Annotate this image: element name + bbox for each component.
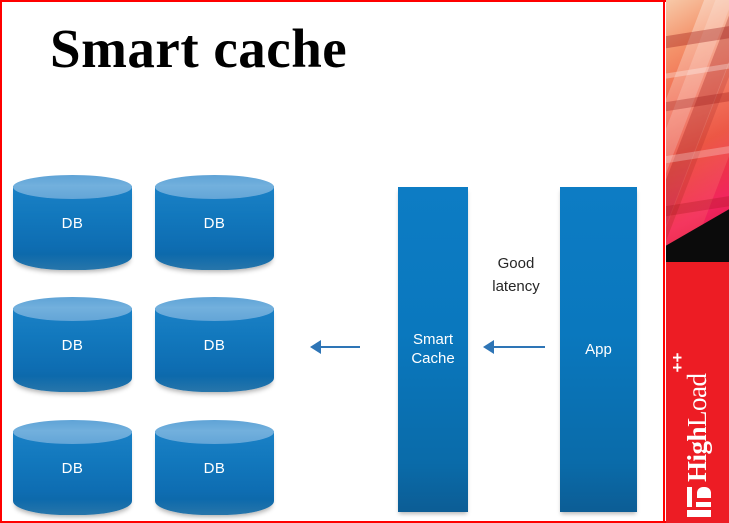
db-cylinder-top [155,420,274,444]
side-panel: HighLoad ++ [666,0,729,523]
arrow-head [483,340,494,354]
brand-name-load: Load [682,373,712,426]
slide-root: Smart cache DB DB DB DB DB DB Smart Cach… [0,0,729,523]
db-cylinder-sheen [13,499,132,515]
brand-suffix: ++ [669,353,686,373]
page-title: Smart cache [50,18,347,80]
highload-brand-panel: HighLoad ++ [666,262,729,523]
db-cylinder-sheen [13,376,132,392]
db-cylinder-label: DB [155,460,274,477]
arrow-head [310,340,321,354]
brand-name: HighLoad [684,373,711,482]
smart-cache-bar-label-line1: Smart [398,330,468,349]
hl-monogram-icon [683,487,713,517]
db-cylinder: DB [13,297,132,399]
db-cylinder: DB [13,420,132,522]
db-cylinder: DB [155,297,274,399]
arrow-app-to-cache-icon [483,340,545,354]
db-cylinder-label: DB [155,215,274,232]
db-cylinder-sheen [13,254,132,270]
db-cylinder-label: DB [155,337,274,354]
db-cylinder-top [13,420,132,444]
db-cylinder-sheen [155,376,274,392]
brand-name-high: High [682,427,712,482]
abstract-building-photo [666,0,729,262]
db-cylinder-label: DB [13,337,132,354]
db-cylinder-top [13,297,132,321]
db-cylinder-top [13,175,132,199]
highload-logo: HighLoad ++ [666,262,729,523]
db-cylinder-label: DB [13,215,132,232]
arrow-shaft [491,346,545,348]
db-cylinder: DB [155,420,274,522]
smart-cache-bar-label-line2: Cache [398,349,468,368]
smart-cache-bar: Smart Cache [398,187,468,512]
db-cylinder-sheen [155,499,274,515]
good-latency-caption: Good latency [478,252,554,298]
arrow-cache-to-db-icon [310,340,360,354]
db-cylinder: DB [13,175,132,277]
db-cylinder-top [155,175,274,199]
caption-line1: Good [478,252,554,275]
db-cylinder-sheen [155,254,274,270]
db-cylinder-label: DB [13,460,132,477]
arrow-shaft [318,346,360,348]
db-cylinder: DB [155,175,274,277]
caption-line2: latency [478,275,554,298]
slide-red-frame-right-edge [663,0,665,523]
app-bar-label: App [560,340,637,359]
db-cylinder-top [155,297,274,321]
app-bar: App [560,187,637,512]
